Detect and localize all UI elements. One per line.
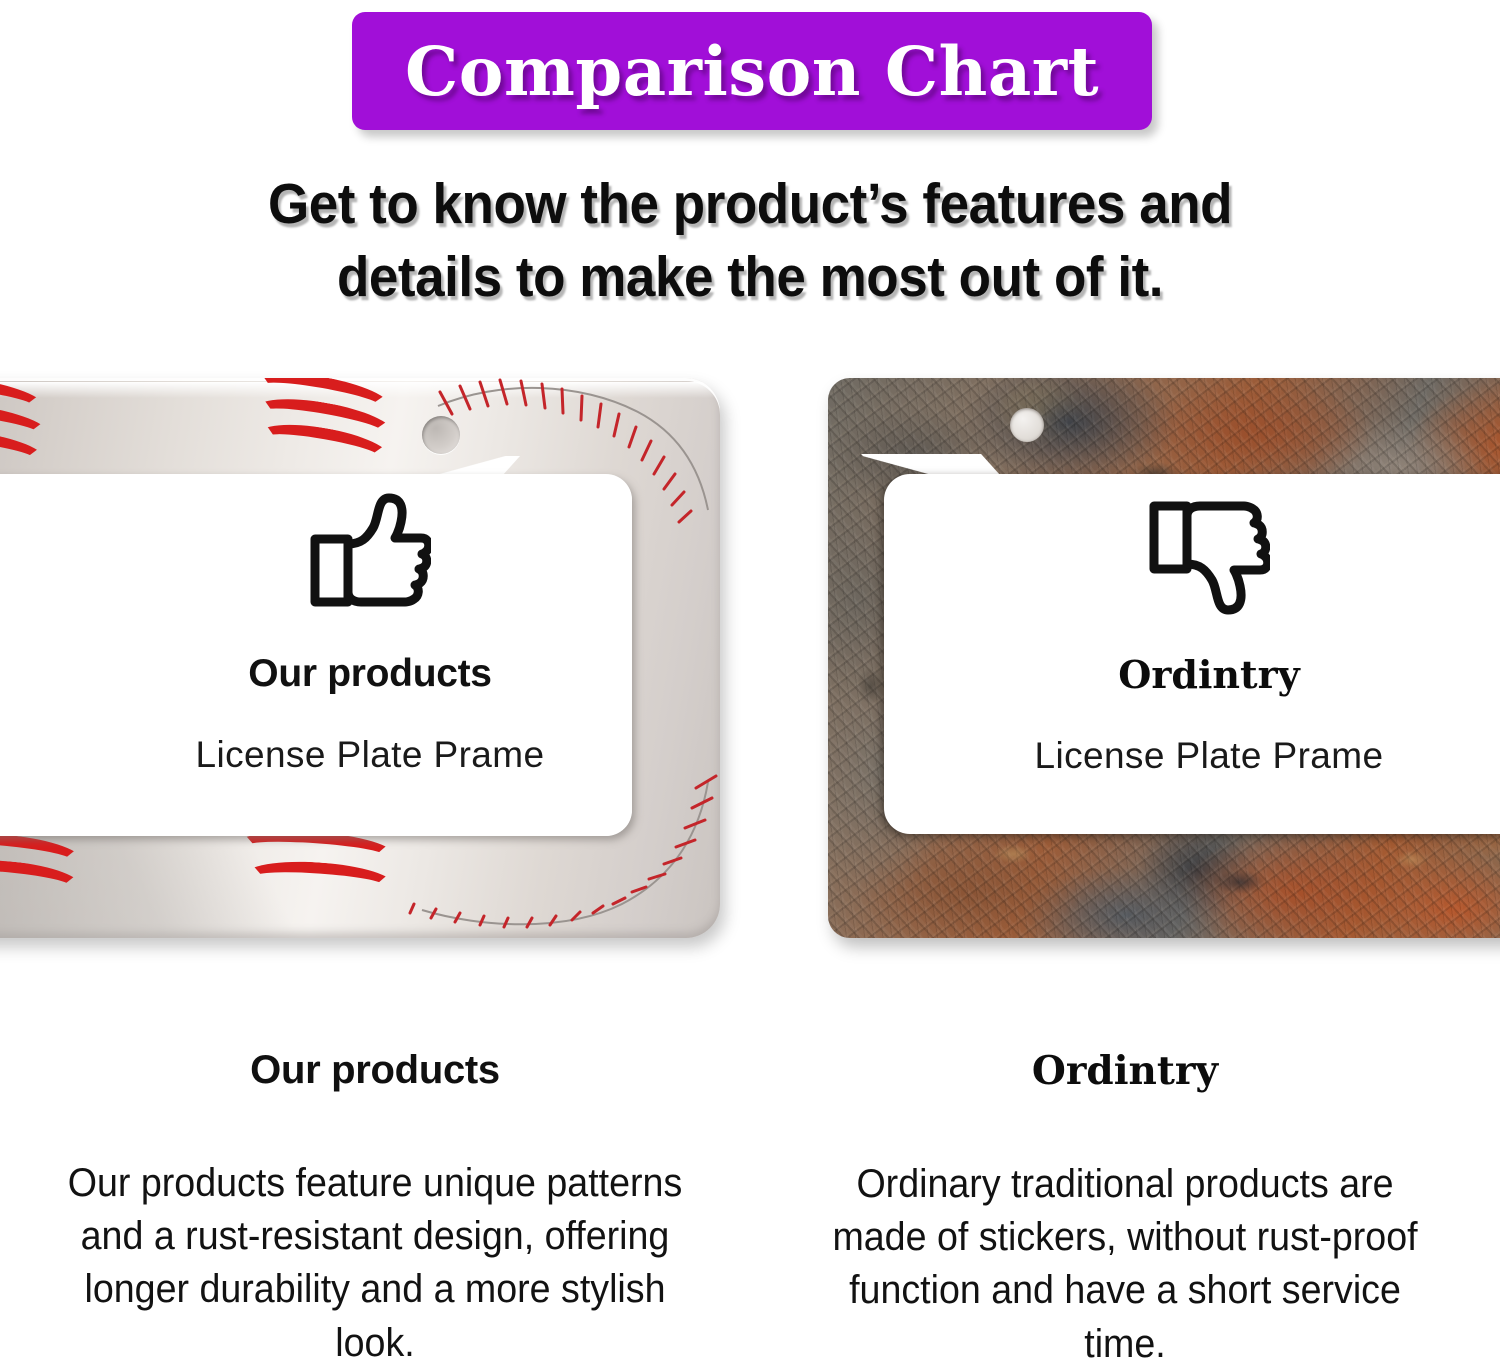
ordinary-product-frame-image — [828, 378, 1500, 938]
subtitle-line-2: details to make the most out of it. — [53, 241, 1448, 314]
right-description-heading: Ordintry — [798, 1048, 1452, 1094]
baseball-frame-body — [0, 378, 720, 938]
right-description-column: Ordintry Ordinary traditional products a… — [750, 1020, 1500, 1364]
page-subtitle: Get to know the product’s features and d… — [53, 168, 1448, 314]
mounting-hole-left — [422, 416, 460, 454]
license-plate-window-left — [0, 474, 632, 836]
left-description-column: Our products Our products feature unique… — [0, 1020, 750, 1364]
left-description-heading: Our products — [48, 1048, 702, 1093]
subtitle-line-1: Get to know the product’s features and — [53, 168, 1448, 241]
mounting-hole-right — [1010, 408, 1044, 442]
license-plate-window-right — [884, 474, 1500, 834]
left-description-body: Our products feature unique patterns and… — [68, 1157, 683, 1370]
comparison-descriptions: Our products Our products feature unique… — [0, 1020, 1500, 1364]
our-product-frame-image — [0, 378, 720, 938]
page-title: Comparison Chart — [405, 32, 1099, 111]
right-description-body: Ordinary traditional products are made o… — [818, 1158, 1433, 1371]
comparison-chart-banner: Comparison Chart — [352, 12, 1152, 130]
rusty-frame-body — [828, 378, 1500, 938]
comparison-panels: Our products License Plate Prame Ordintr… — [0, 370, 1500, 970]
